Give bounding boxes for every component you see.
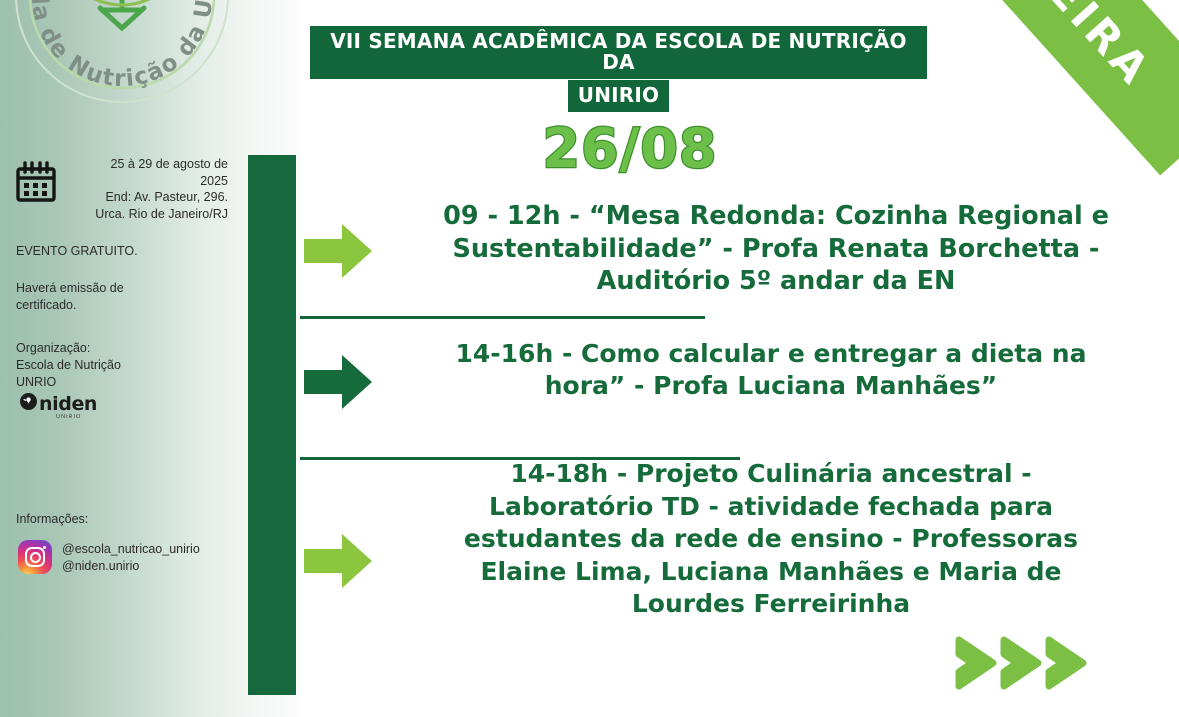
organization-line: UNRIO — [16, 374, 186, 391]
niden-wordmark: niden — [39, 395, 97, 414]
instagram-icon[interactable] — [18, 540, 52, 574]
instagram-handle[interactable]: @niden.unirio — [62, 558, 200, 575]
certificate-line: Haverá emissão de — [16, 280, 166, 297]
free-event-note: EVENTO GRATUITO. — [16, 243, 138, 260]
date-line: 2025 — [66, 173, 228, 190]
vertical-divider-bar — [248, 155, 296, 695]
arrow-right-icon — [302, 352, 374, 412]
event-line: Auditório 5º andar da EN — [376, 265, 1176, 298]
event-line: Lourdes Ferreirinha — [376, 588, 1166, 621]
calendar-icon — [14, 160, 58, 209]
event-item-2-text: 14-16h - Como calcular e entregar a diet… — [376, 338, 1166, 402]
date-line: Urca. Rio de Janeiro/RJ — [66, 206, 228, 223]
arrow-right-icon — [302, 531, 374, 591]
certificate-line: certificado. — [16, 297, 166, 314]
organization-line: Organização: — [16, 340, 186, 357]
organization-note: Organização: Escola de Nutrição UNRIO — [16, 340, 186, 391]
event-line: hora” - Profa Luciana Manhães” — [376, 370, 1166, 402]
poster-canvas: Escola de Nutrição da Unirio FEIRA — [0, 0, 1179, 717]
instagram-handles: @escola_nutricao_unirio @niden.unirio — [62, 540, 200, 576]
poster-title-banner: VII SEMANA ACADÊMICA DA ESCOLA DE NUTRIÇ… — [310, 26, 927, 112]
ribbon-label: FEIRA — [1016, 0, 1161, 96]
event-line: Sustentabilidade” - Profa Renata Borchet… — [376, 233, 1176, 266]
event-line: estudantes da rede de ensino - Professor… — [376, 523, 1166, 556]
poster-title-line-1: VII SEMANA ACADÊMICA DA ESCOLA DE NUTRIÇ… — [310, 26, 927, 79]
chevron-right-icon — [1045, 636, 1087, 690]
poster-title-line-2: UNIRIO — [568, 80, 669, 112]
escola-de-nutricao-seal-icon: Escola de Nutrição da Unirio — [8, 0, 236, 110]
event-line: Laboratório TD - atividade fechada para — [376, 491, 1166, 524]
event-item-3-text: 14-18h - Projeto Culinária ancestral - L… — [376, 458, 1166, 621]
date-line: End: Av. Pasteur, 296. — [66, 189, 228, 206]
chevrons-right-icon — [955, 636, 1087, 690]
niden-mark-icon — [20, 393, 37, 415]
instagram-block[interactable]: @escola_nutricao_unirio @niden.unirio — [18, 540, 200, 576]
event-date-block: 25 à 29 de agosto de 2025 End: Av. Paste… — [14, 156, 228, 223]
arrow-right-icon — [302, 221, 374, 281]
seal-arc-text: Escola de Nutrição da Unirio — [8, 0, 218, 92]
event-line: 14-16h - Como calcular e entregar a diet… — [376, 338, 1166, 370]
instagram-handle[interactable]: @escola_nutricao_unirio — [62, 541, 200, 558]
certificate-note: Haverá emissão de certificado. — [16, 280, 166, 314]
event-line: 14-18h - Projeto Culinária ancestral - — [376, 458, 1166, 491]
section-separator — [300, 316, 705, 319]
info-label: Informações: — [16, 511, 88, 528]
niden-subtitle: UNIRIO — [56, 414, 81, 420]
date-headline: 26/08 — [310, 117, 950, 180]
organization-line: Escola de Nutrição — [16, 357, 186, 374]
event-item-1-text: 09 - 12h - “Mesa Redonda: Cozinha Region… — [376, 200, 1176, 298]
event-line: 09 - 12h - “Mesa Redonda: Cozinha Region… — [376, 200, 1176, 233]
event-date-text: 25 à 29 de agosto de 2025 End: Av. Paste… — [66, 156, 228, 223]
date-line: 25 à 29 de agosto de — [66, 156, 228, 173]
chevron-right-icon — [955, 636, 997, 690]
svg-text:Escola de Nutrição da Unirio: Escola de Nutrição da Unirio — [8, 0, 218, 92]
chevron-right-icon — [1000, 636, 1042, 690]
event-line: Elaine Lima, Luciana Manhães e Maria de — [376, 556, 1166, 589]
niden-logo: niden — [20, 393, 97, 415]
